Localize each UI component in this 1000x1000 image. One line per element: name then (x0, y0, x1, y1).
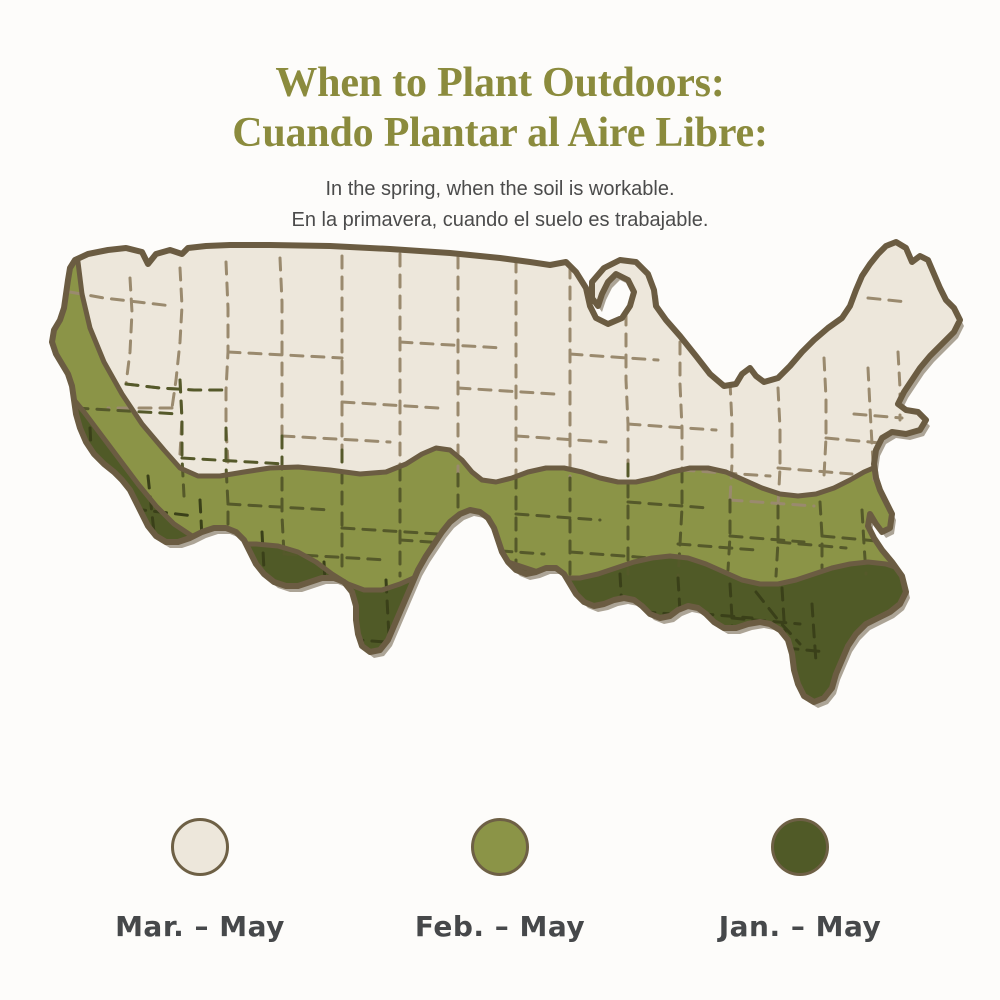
planting-zone-infographic: When to Plant Outdoors: Cuando Plantar a… (0, 0, 1000, 1000)
map-container (30, 232, 970, 802)
subtitle-english: In the spring, when the soil is workable… (0, 174, 1000, 205)
legend-item-jan-may[interactable]: Jan. – May (650, 818, 950, 943)
legend-swatch-jan-may (771, 818, 829, 876)
legend-swatch-mar-may (171, 818, 229, 876)
page-title-english: When to Plant Outdoors: (0, 58, 1000, 108)
legend-item-mar-may[interactable]: Mar. – May (50, 818, 350, 943)
header: When to Plant Outdoors: Cuando Plantar a… (0, 58, 1000, 236)
zone-bands-group (30, 232, 970, 802)
legend-item-feb-may[interactable]: Feb. – May (350, 818, 650, 943)
us-zone-map-svg (30, 232, 970, 802)
subtitle-block: In the spring, when the soil is workable… (0, 174, 1000, 236)
legend-label-feb-may: Feb. – May (415, 910, 585, 943)
legend-label-jan-may: Jan. – May (719, 910, 882, 943)
legend-swatch-feb-may (471, 818, 529, 876)
legend-label-mar-may: Mar. – May (115, 910, 285, 943)
page-title-spanish: Cuando Plantar al Aire Libre: (0, 108, 1000, 158)
legend: Mar. – May Feb. – May Jan. – May (0, 818, 1000, 943)
